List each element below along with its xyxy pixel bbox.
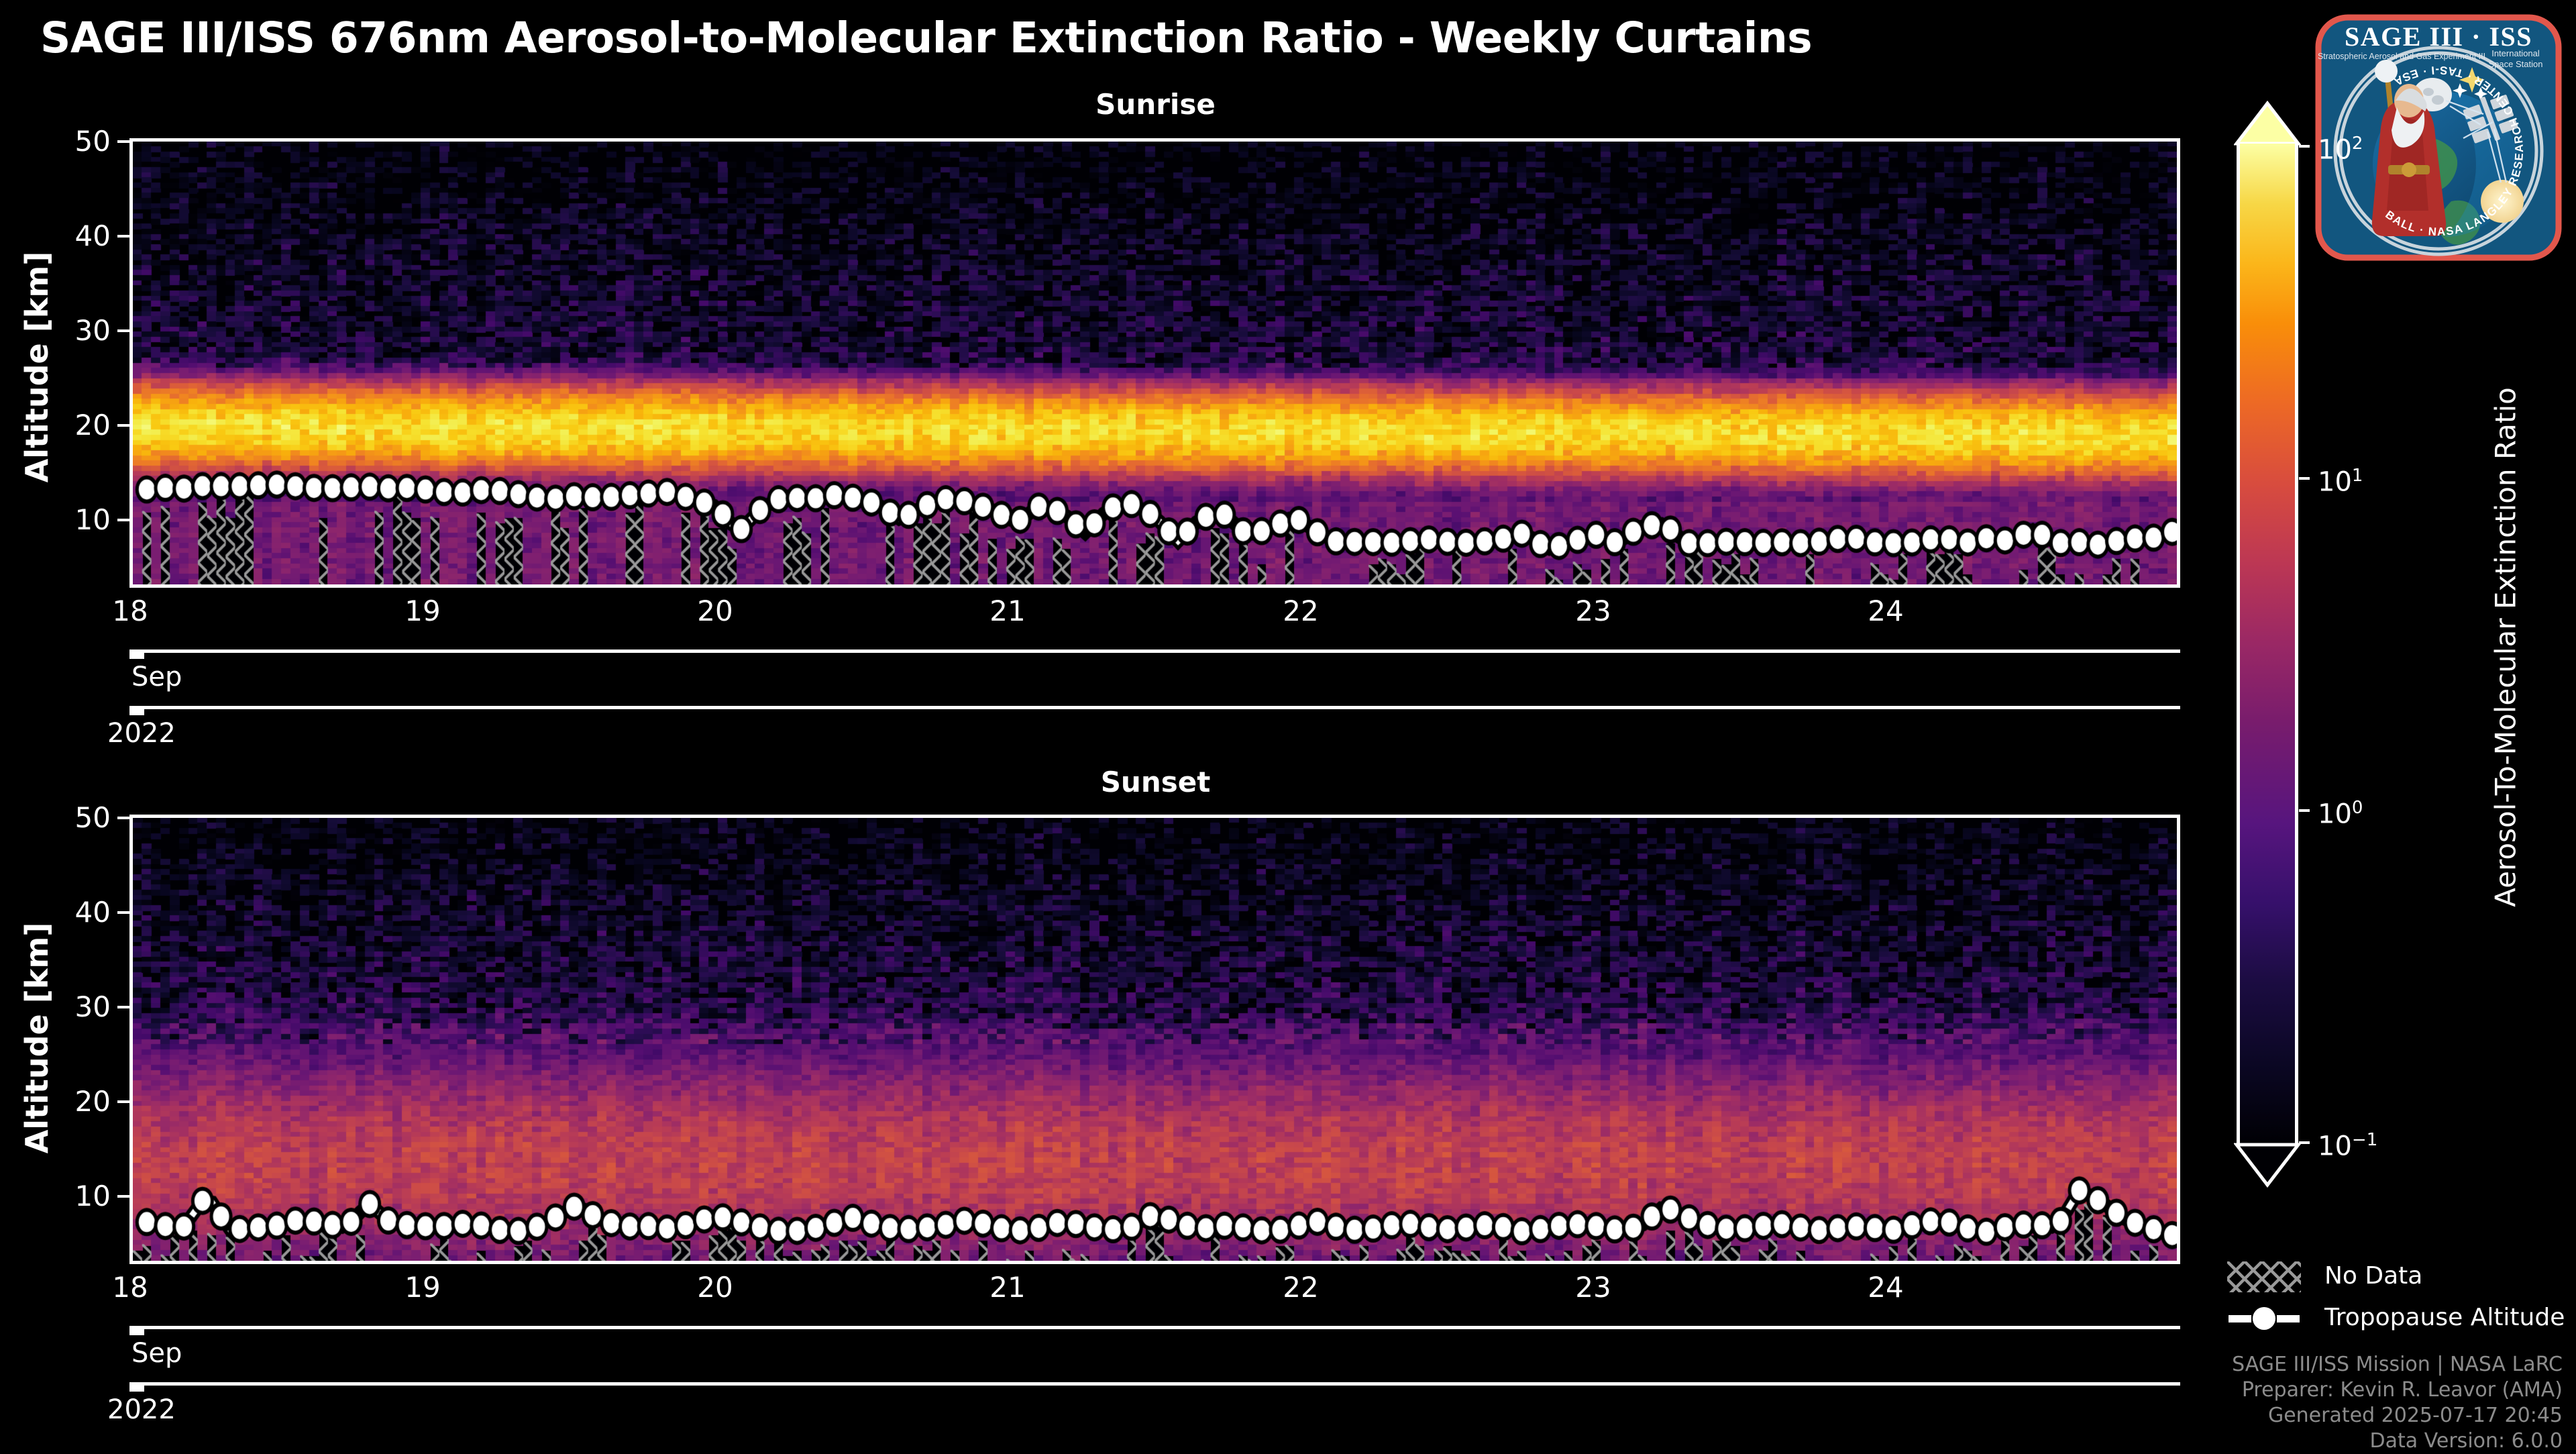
ytick-sunrise-20: 20 [27, 411, 111, 439]
ytick-sunset-50: 50 [27, 804, 111, 832]
sunset-month-tick [129, 1326, 144, 1335]
sunrise-month-label: Sep [131, 663, 182, 691]
sunrise-month-axisline [129, 650, 2180, 653]
sunrise-heatmap-plot[interactable] [129, 138, 2180, 588]
tropopause-line-icon [2227, 1303, 2301, 1334]
xtick-sunset-24: 24 [1848, 1274, 1923, 1302]
ytickmark-sunset-10 [117, 1195, 129, 1198]
patch-subtitle-right-1: International [2491, 48, 2540, 58]
legend-label-tropopause: Tropopause Altitude [2324, 1304, 2565, 1331]
footer-line-version: Data Version: 6.0.0 [1838, 1429, 2563, 1454]
xtick-sunrise-18: 18 [93, 597, 168, 625]
xtick-sunset-22: 22 [1263, 1274, 1338, 1302]
ytick-sunset-40: 40 [27, 898, 111, 927]
colorbar[interactable]: 102 101 100 10−1 Aerosol-To-Molecular Ex… [2234, 101, 2569, 1201]
sunrise-year-tick [129, 706, 144, 715]
footer-line-mission: SAGE III/ISS Mission | NASA LaRC [1838, 1352, 2563, 1378]
colorbar-tickline-1e-1 [2299, 1141, 2310, 1144]
panel-sunrise-ylabel: Altitude [km] [19, 240, 55, 495]
panel-sunrise: Sunrise Altitude [km] 50 40 30 20 10 18 … [0, 0, 2214, 738]
sunset-year-tick [129, 1382, 144, 1392]
cb-mantissa-1e0: 10 [2318, 798, 2352, 829]
xtick-sunset-21: 21 [970, 1274, 1045, 1302]
xtick-sunrise-24: 24 [1848, 597, 1923, 625]
ytick-sunset-30: 30 [27, 993, 111, 1021]
colorbar-gradient [2237, 144, 2298, 1143]
colorbar-ticklabel-1e-1: 10−1 [2318, 1127, 2377, 1159]
ytickmark-sunrise-20 [117, 424, 129, 427]
colorbar-extend-bottom [2234, 1142, 2301, 1188]
patch-subtitle-right-2: Space Station [2489, 59, 2543, 69]
xtick-sunset-23: 23 [1556, 1274, 1631, 1302]
xtick-sunrise-21: 21 [970, 597, 1045, 625]
ytick-sunset-10: 10 [27, 1182, 111, 1210]
sunset-heatmap-canvas [133, 818, 2177, 1261]
ytick-sunrise-50: 50 [27, 127, 111, 156]
xtick-sunset-18: 18 [93, 1274, 168, 1302]
sunrise-heatmap-canvas [133, 142, 2177, 584]
patch-heading: SAGE III · ISS [2345, 21, 2532, 52]
colorbar-ticklabel-1e2: 102 [2318, 130, 2363, 163]
legend-label-no-data: No Data [2324, 1263, 2422, 1290]
ytickmark-sunset-40 [117, 911, 129, 914]
ytickmark-sunrise-10 [117, 519, 129, 521]
ytickmark-sunset-20 [117, 1100, 129, 1103]
cb-exponent-1e1: 1 [2352, 466, 2363, 486]
legend: No Data Tropopause Altitude [2227, 1261, 2576, 1349]
sunset-month-label: Sep [131, 1339, 182, 1367]
ytick-sunrise-10: 10 [27, 506, 111, 534]
ytick-sunset-20: 20 [27, 1088, 111, 1116]
sunrise-month-tick [129, 650, 144, 659]
cb-mantissa-1e2: 10 [2318, 134, 2352, 165]
cb-exponent-1e2: 2 [2352, 134, 2363, 154]
colorbar-tickline-1e2 [2299, 145, 2310, 148]
sunset-year-label: 2022 [107, 1396, 176, 1424]
ytickmark-sunrise-40 [117, 235, 129, 238]
footer-line-preparer: Preparer: Kevin R. Leavor (AMA) [1838, 1378, 2563, 1403]
footer-credits: SAGE III/ISS Mission | NASA LaRC Prepare… [1838, 1352, 2563, 1454]
sunrise-year-axisline [129, 706, 2180, 709]
footer-line-generated: Generated 2025-07-17 20:45 [1838, 1403, 2563, 1429]
no-data-hatch-icon [2227, 1261, 2301, 1292]
ytickmark-sunset-50 [117, 817, 129, 819]
colorbar-ticklabel-1e0: 100 [2318, 794, 2363, 827]
sunset-month-axisline [129, 1326, 2180, 1329]
panel-sunset-ylabel: Altitude [km] [19, 911, 55, 1165]
colorbar-tickline-1e0 [2299, 809, 2310, 812]
patch-subtitle-left: Stratospheric Aerosol and Gas Experiment… [2318, 52, 2485, 61]
ytick-sunrise-30: 30 [27, 317, 111, 345]
colorbar-extend-top [2234, 101, 2301, 146]
ytickmark-sunrise-50 [117, 140, 129, 143]
ytick-sunrise-40: 40 [27, 222, 111, 250]
xtick-sunrise-19: 19 [385, 597, 460, 625]
cb-mantissa-1e1: 10 [2318, 466, 2352, 497]
panel-sunset-title: Sunset [131, 766, 2180, 798]
xtick-sunrise-20: 20 [678, 597, 753, 625]
ytickmark-sunrise-30 [117, 329, 129, 332]
sunset-heatmap-plot[interactable] [129, 815, 2180, 1264]
xtick-sunrise-23: 23 [1556, 597, 1631, 625]
cb-exponent-1e0: 0 [2352, 798, 2363, 818]
panel-sunrise-title: Sunrise [131, 89, 2180, 121]
panel-sunset: Sunset Altitude [km] 50 40 30 20 10 18 1… [0, 731, 2214, 1449]
cb-exponent-1e-1: −1 [2352, 1130, 2377, 1150]
cb-mantissa-1e-1: 10 [2318, 1131, 2352, 1161]
ytickmark-sunset-30 [117, 1006, 129, 1008]
xtick-sunset-19: 19 [385, 1274, 460, 1302]
xtick-sunset-20: 20 [678, 1274, 753, 1302]
xtick-sunrise-22: 22 [1263, 597, 1338, 625]
colorbar-tickline-1e1 [2299, 477, 2310, 480]
colorbar-ticklabel-1e1: 101 [2318, 462, 2363, 495]
colorbar-label: Aerosol-To-Molecular Extinction Ratio [2489, 265, 2522, 1030]
